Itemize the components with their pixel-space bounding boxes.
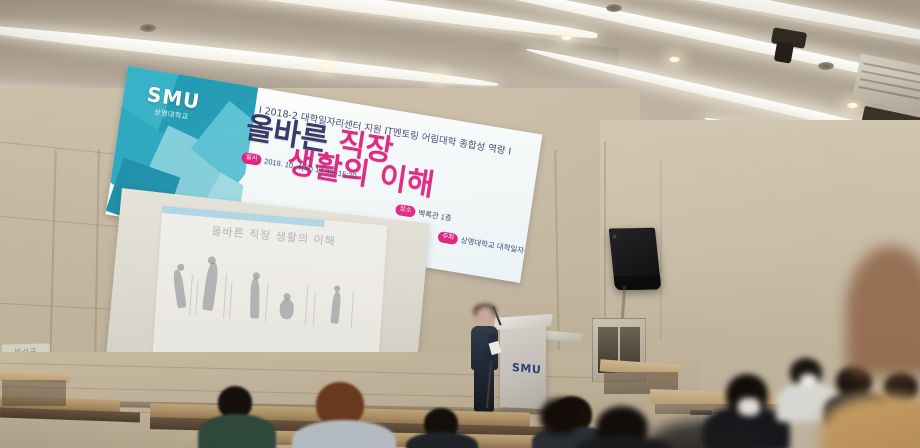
ceiling-downlight <box>318 62 331 69</box>
ceiling-downlight <box>560 34 573 41</box>
ceiling-fixture <box>818 62 834 70</box>
ceiling-downlight <box>432 74 445 81</box>
desk-panel <box>2 380 66 406</box>
attendee-head <box>540 398 580 434</box>
ceiling-downlight <box>846 102 859 109</box>
ceiling-fixture <box>606 4 622 12</box>
banner-where-tag: 장소 <box>395 204 416 217</box>
ceiling-downlight <box>668 56 681 63</box>
attendee-shoulders <box>198 414 276 448</box>
podium-logo: SMU <box>512 361 542 377</box>
face-mask-icon <box>800 374 817 387</box>
banner-where-value: 백록관 1층 <box>417 207 452 223</box>
wall-panel-edge <box>660 160 662 340</box>
presenter <box>468 306 502 410</box>
pen-on-desk <box>690 410 712 415</box>
banner-host-tag: 주최 <box>437 231 458 244</box>
podium: SMU <box>500 321 546 410</box>
ceiling-fixture <box>140 24 156 32</box>
pa-speaker-icon <box>609 228 662 290</box>
face-mask-icon <box>738 398 760 416</box>
slide-title: 올바른 직장 생활의 이해 <box>161 218 387 254</box>
slide-figure-group <box>155 252 385 340</box>
lecture-hall-photo: 비상구 SMU 상명대학교 Ⅰ 2018-2 대학일자리센터 지원 IT멘토링 … <box>0 0 920 448</box>
